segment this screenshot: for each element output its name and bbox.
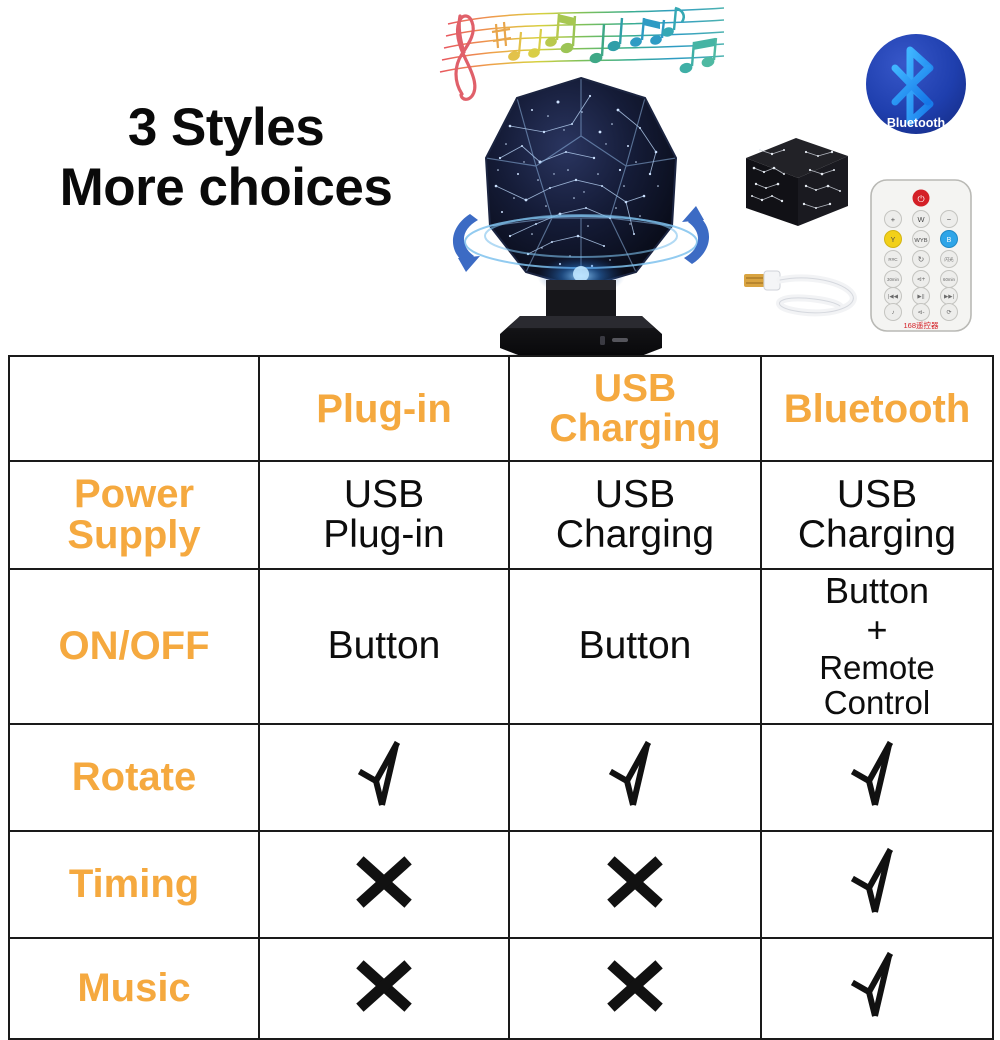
svg-text:R#C: R#C bbox=[888, 257, 898, 262]
headline-line-1: 3 Styles bbox=[128, 98, 324, 157]
cell-onoff-usb-text: Button bbox=[514, 626, 756, 667]
svg-text:WYB: WYB bbox=[914, 238, 927, 244]
check-icon bbox=[849, 950, 905, 1027]
row-label-rotate: Rotate bbox=[9, 724, 259, 831]
hero-section: 3 Styles More choices bbox=[0, 0, 1000, 355]
table-row-music: Music bbox=[9, 938, 993, 1039]
cell-power-usb-line1: USB bbox=[514, 475, 756, 515]
header-usb-line2: Charging bbox=[514, 409, 756, 449]
row-label-power-line1: Power bbox=[14, 474, 254, 515]
check-icon bbox=[849, 846, 905, 923]
svg-text:⟳: ⟳ bbox=[946, 310, 951, 316]
row-label-power-supply: Power Supply bbox=[9, 461, 259, 569]
table-row-rotate: Rotate bbox=[9, 724, 993, 831]
cell-music-plugin bbox=[259, 938, 509, 1039]
cell-rotate-bluetooth bbox=[761, 724, 993, 831]
cell-onoff-plugin-text: Button bbox=[264, 626, 504, 667]
row-label-onoff: ON/OFF bbox=[9, 569, 259, 724]
product-box-image bbox=[736, 128, 856, 238]
remote-control-image: ⏻ + W − Y WYB B R#C ↻ 闪光 30min ⊲+ bbox=[869, 178, 973, 333]
header-cell-usb-charging: USB Charging bbox=[509, 356, 761, 461]
svg-text:↻: ↻ bbox=[918, 255, 925, 264]
cell-power-plugin-line1: USB bbox=[264, 475, 504, 515]
header-cell-plugin: Plug-in bbox=[259, 356, 509, 461]
cell-onoff-bt-line2: + bbox=[766, 611, 988, 650]
svg-text:30min: 30min bbox=[887, 277, 900, 282]
check-icon bbox=[849, 739, 905, 816]
cross-icon bbox=[607, 854, 663, 915]
header-bluetooth-label: Bluetooth bbox=[766, 389, 988, 429]
cell-music-bluetooth bbox=[761, 938, 993, 1039]
cell-onoff-bt-line1: Button bbox=[766, 572, 988, 611]
cell-music-usb bbox=[509, 938, 761, 1039]
cell-rotate-plugin bbox=[259, 724, 509, 831]
cross-icon bbox=[607, 958, 663, 1019]
cell-timing-plugin bbox=[259, 831, 509, 938]
cell-power-bt-line2: Charging bbox=[766, 515, 988, 555]
comparison-table: Plug-in USB Charging Bluetooth Power bbox=[8, 355, 994, 1040]
svg-text:−: − bbox=[947, 215, 952, 224]
svg-text:60min: 60min bbox=[943, 277, 956, 282]
check-icon bbox=[607, 739, 663, 816]
svg-text:+: + bbox=[891, 215, 896, 224]
cell-power-usb: USB Charging bbox=[509, 461, 761, 569]
svg-text:B: B bbox=[947, 237, 952, 244]
cell-onoff-bt-line3: Remote Control bbox=[766, 650, 988, 721]
svg-text:⏻: ⏻ bbox=[917, 194, 924, 204]
cell-power-usb-line2: Charging bbox=[514, 515, 756, 555]
row-label-power-line2: Supply bbox=[14, 515, 254, 556]
svg-text:⊲-: ⊲- bbox=[917, 310, 924, 316]
cell-power-bluetooth: USB Charging bbox=[761, 461, 993, 569]
cell-power-bt-line1: USB bbox=[766, 475, 988, 515]
table-header-row: Plug-in USB Charging Bluetooth bbox=[9, 356, 993, 461]
svg-text:闪光: 闪光 bbox=[944, 256, 954, 263]
infographic-root: 3 Styles More choices bbox=[0, 0, 1000, 1000]
row-label-rotate-text: Rotate bbox=[14, 757, 254, 798]
cross-icon bbox=[356, 854, 412, 915]
cell-rotate-usb bbox=[509, 724, 761, 831]
header-cell-bluetooth: Bluetooth bbox=[761, 356, 993, 461]
bluetooth-badge-label: Bluetooth bbox=[887, 116, 945, 130]
page-title: 3 Styles More choices bbox=[26, 98, 426, 219]
cell-onoff-bluetooth: Button + Remote Control bbox=[761, 569, 993, 724]
cell-timing-usb bbox=[509, 831, 761, 938]
check-icon bbox=[356, 739, 412, 816]
cell-onoff-usb: Button bbox=[509, 569, 761, 724]
row-label-onoff-text: ON/OFF bbox=[14, 626, 254, 667]
table-row-timing: Timing bbox=[9, 831, 993, 938]
row-label-music: Music bbox=[9, 938, 259, 1039]
svg-text:▶||: ▶|| bbox=[917, 294, 924, 300]
cell-onoff-plugin: Button bbox=[259, 569, 509, 724]
header-plugin-label: Plug-in bbox=[264, 389, 504, 429]
svg-text:Y: Y bbox=[891, 237, 896, 244]
svg-text:|◀◀: |◀◀ bbox=[888, 294, 899, 300]
svg-text:W: W bbox=[917, 215, 925, 224]
cell-power-plugin: USB Plug-in bbox=[259, 461, 509, 569]
usb-cable-image bbox=[740, 250, 870, 322]
cell-power-plugin-line2: Plug-in bbox=[264, 515, 504, 555]
svg-text:♪: ♪ bbox=[892, 310, 895, 316]
svg-text:▶▶|: ▶▶| bbox=[944, 294, 954, 300]
remote-model-label: 168遥控器 bbox=[903, 320, 939, 330]
svg-text:⊲+: ⊲+ bbox=[917, 277, 926, 283]
headline-line-2: More choices bbox=[26, 158, 426, 218]
star-projector-image bbox=[440, 66, 722, 358]
row-label-music-text: Music bbox=[14, 968, 254, 1009]
bluetooth-badge: Bluetooth bbox=[862, 30, 970, 138]
row-label-timing: Timing bbox=[9, 831, 259, 938]
header-usb-line1: USB bbox=[514, 369, 756, 409]
table-row-power-supply: Power Supply USB Plug-in USB Charging bbox=[9, 461, 993, 569]
header-cell-blank bbox=[9, 356, 259, 461]
row-label-timing-text: Timing bbox=[14, 864, 254, 905]
cross-icon bbox=[356, 958, 412, 1019]
cell-timing-bluetooth bbox=[761, 831, 993, 938]
table-row-onoff: ON/OFF Button Button Button + Remote Con… bbox=[9, 569, 993, 724]
